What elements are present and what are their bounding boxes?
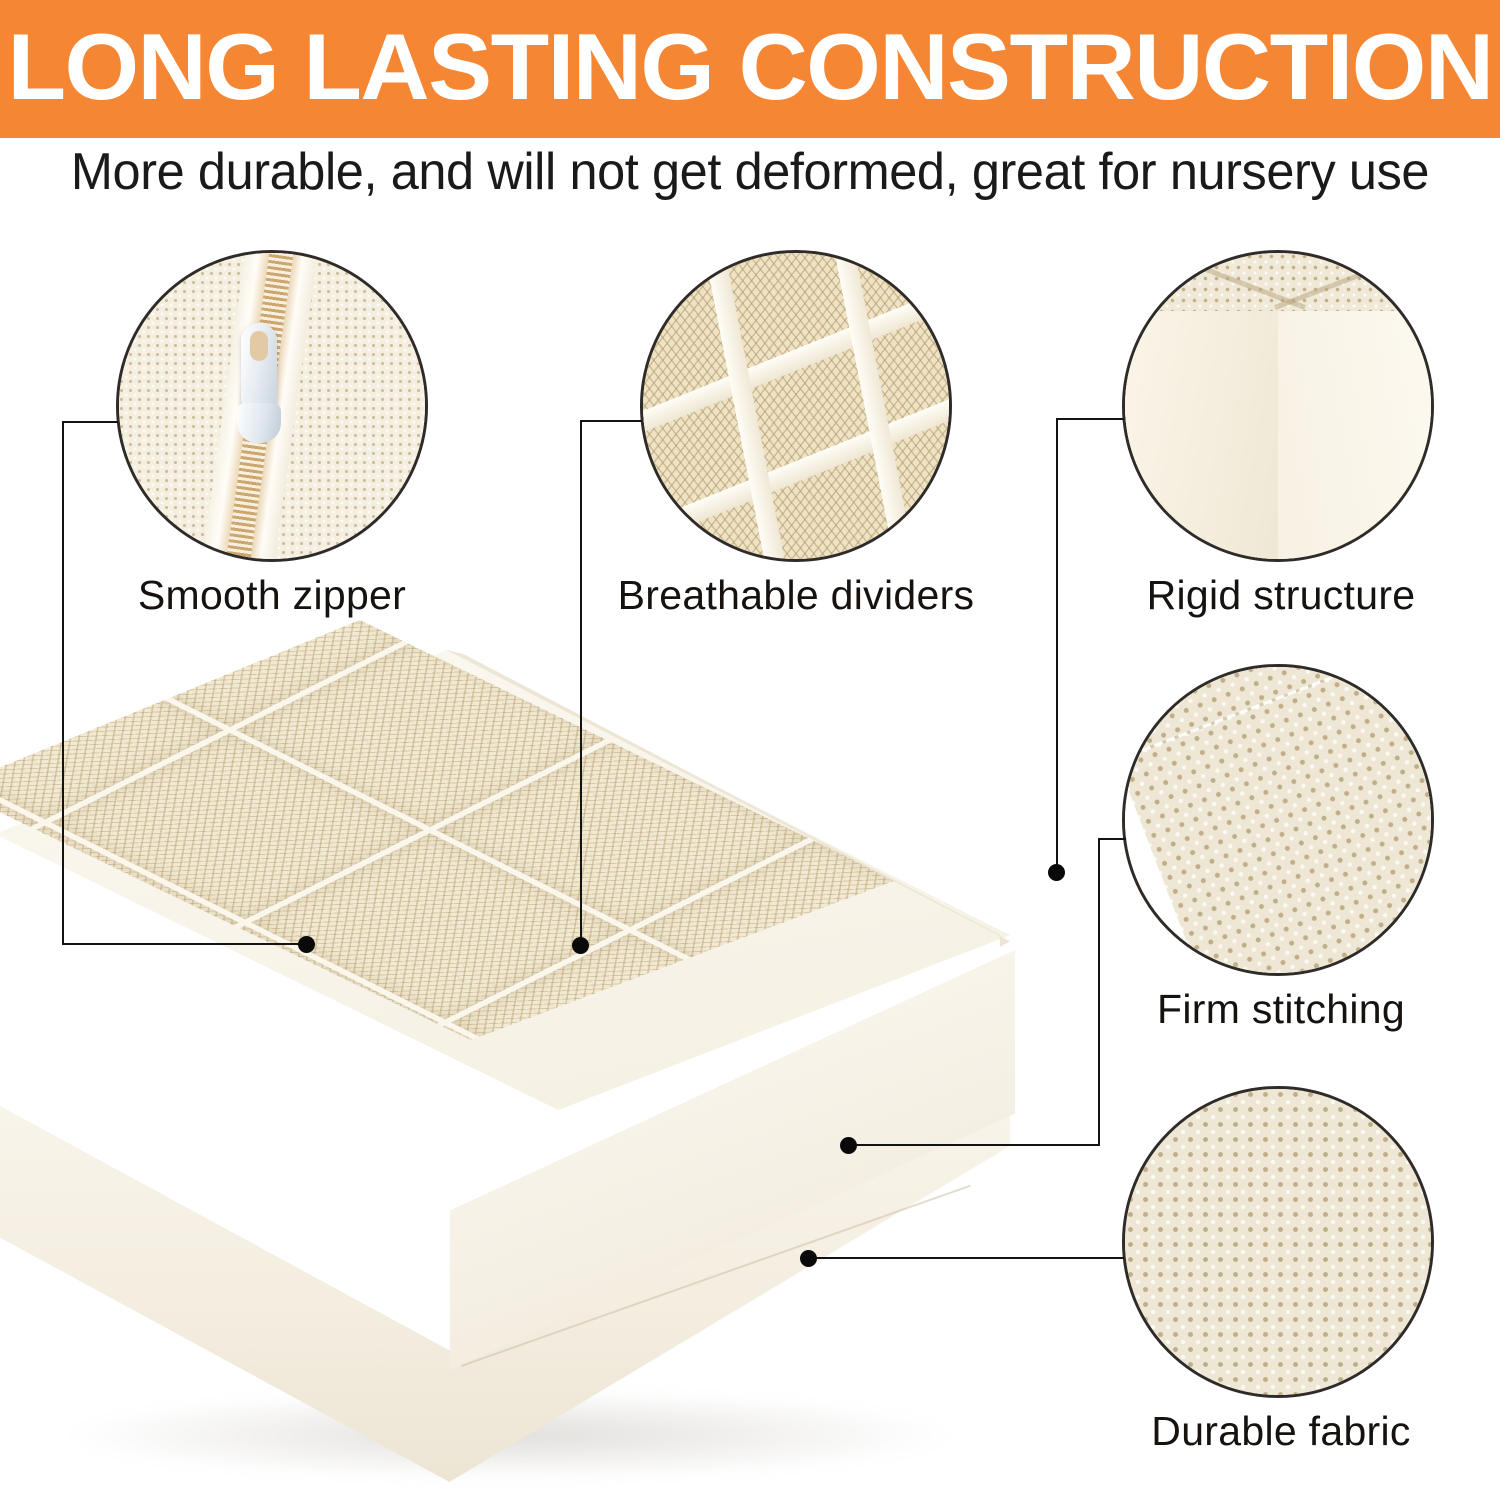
header-banner: LONG LASTING CONSTRUCTION [0,0,1500,138]
leader-endpoint-dot [1048,864,1065,881]
leader-endpoint-dot [572,937,589,954]
rigid-structure-label: Rigid structure [1076,572,1486,619]
compartment-cell [215,620,600,638]
zipper-slider-body [237,403,281,443]
corner-left-face [1122,311,1283,562]
smooth-zipper-photo [116,250,428,562]
compartment-cell [0,723,45,916]
leader-line-segment [1056,418,1124,420]
leader-endpoint-dot [800,1250,817,1267]
leader-line-segment [1098,838,1126,840]
leader-line-segment [62,421,118,423]
leader-line-segment [62,943,307,945]
leader-endpoint-dot [298,936,315,953]
leader-endpoint-dot [840,1137,857,1154]
subtitle-text: More durable, and will not get deformed,… [23,142,1478,202]
leader-line-segment [1098,838,1100,1144]
firm-stitching-label: Firm stitching [1076,986,1486,1033]
page-title: LONG LASTING CONSTRUCTION [7,20,1492,118]
product-image [0,620,1050,1500]
leader-line-segment [1056,418,1058,873]
rigid-structure-photo [1122,250,1434,562]
compartment-cell [0,620,215,630]
corner-right-face [1278,311,1434,562]
leader-line-segment [62,421,64,943]
durable-fabric-label: Durable fabric [1076,1408,1486,1455]
firm-stitching-photo [1122,664,1434,976]
zipper-pull-hole [250,331,268,361]
infographic-page: LONG LASTING CONSTRUCTION More durable, … [0,0,1500,1500]
leader-line-segment [852,1144,1100,1146]
durable-fabric-texture [1123,1087,1433,1397]
durable-fabric-photo [1122,1086,1434,1398]
smooth-zipper-label: Smooth zipper [62,572,482,619]
breathable-dividers-label: Breathable dividers [576,572,1016,619]
leader-line-segment [812,1257,1124,1259]
breathable-dividers-photo [640,250,952,562]
leader-line-segment [580,420,582,945]
compartment-cell [0,620,30,723]
leader-line-segment [580,420,642,422]
